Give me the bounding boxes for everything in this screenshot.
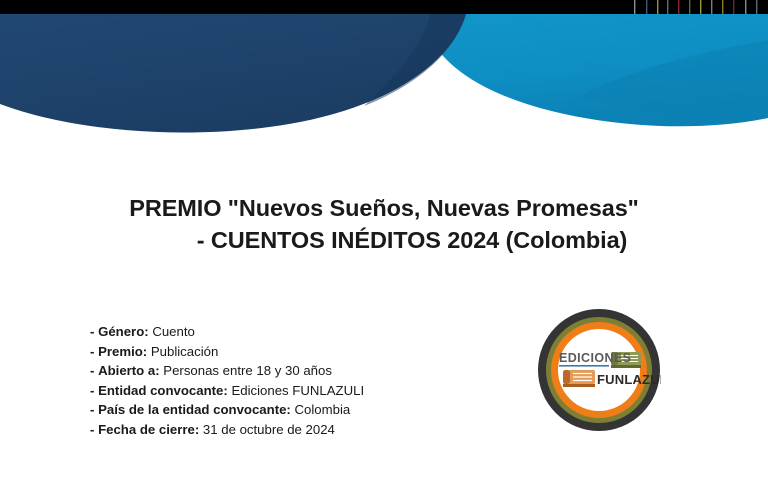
detail-value: Colombia [295,402,351,417]
detail-label: País de la entidad convocante: [98,402,291,417]
logo-text-bottom: FUNLAZULI [597,372,661,387]
detail-value: Cuento [152,324,195,339]
bullet-dash: - [90,422,94,437]
list-item: - Premio: Publicación [90,342,490,362]
logo-text-top: EDICIONES [559,351,631,365]
top-black-bar [0,0,768,14]
title-line-1: PREMIO "Nuevos Sueños, Nuevas Promesas" [64,192,704,224]
detail-value: Ediciones FUNLAZULI [231,383,364,398]
bullet-dash: - [90,383,94,398]
title-line-2: - CUENTOS INÉDITOS 2024 (Colombia) [64,224,704,256]
bullet-dash: - [90,344,94,359]
slide-canvas: PREMIO "Nuevos Sueños, Nuevas Promesas" … [0,0,768,477]
bullet-dash: - [90,324,94,339]
list-item: - Entidad convocante: Ediciones FUNLAZUL… [90,381,490,401]
bullet-dash: - [90,402,94,417]
bullet-dash: - [90,363,94,378]
list-item: - Abierto a: Personas entre 18 y 30 años [90,361,490,381]
detail-label: Premio: [98,344,147,359]
details-list: - Género: Cuento - Premio: Publicación -… [90,322,490,439]
detail-label: Entidad convocante: [98,383,228,398]
logo-ediciones-funlazuli: EDICIONES FUNLAZULI [537,308,661,432]
list-item: - Género: Cuento [90,322,490,342]
detail-value: 31 de octubre de 2024 [203,422,335,437]
book-bottom-icon [563,370,595,387]
detail-value: Publicación [151,344,218,359]
logo-underline [559,365,609,367]
detail-label: Fecha de cierre: [98,422,199,437]
detail-label: Abierto a: [98,363,160,378]
list-item: - País de la entidad convocante: Colombi… [90,400,490,420]
page-title: PREMIO "Nuevos Sueños, Nuevas Promesas" … [64,192,704,256]
detail-value: Personas entre 18 y 30 años [163,363,332,378]
header-decoration [0,0,768,135]
list-item: - Fecha de cierre: 31 de octubre de 2024 [90,420,490,440]
detail-label: Género: [98,324,149,339]
